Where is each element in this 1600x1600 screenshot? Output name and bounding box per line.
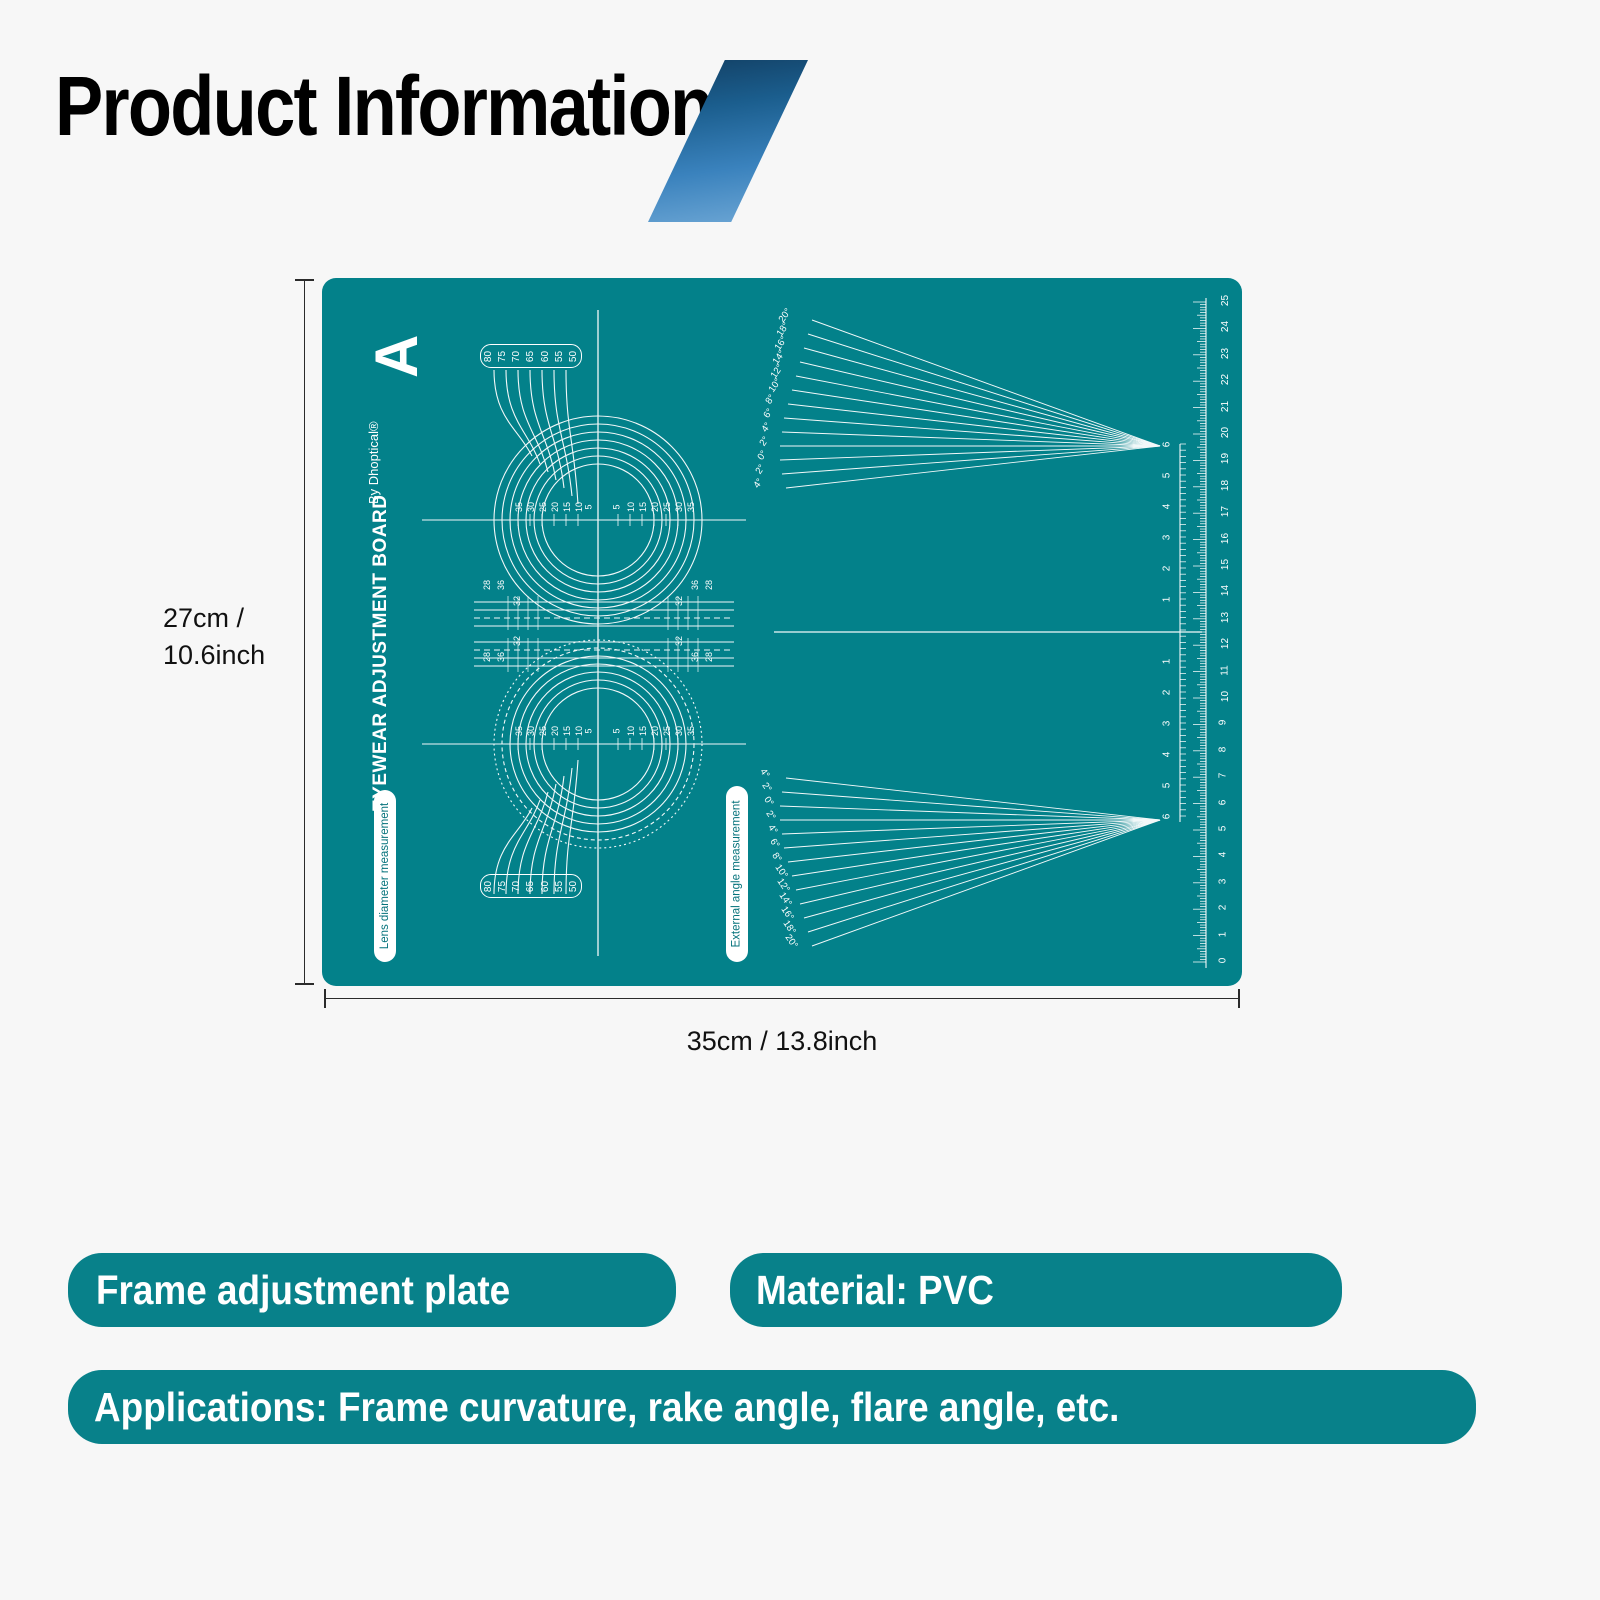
edge-ruler-6: 6 (1217, 799, 1228, 805)
dimension-height-label: 27cm / 10.6inch (163, 600, 303, 675)
angle-upper-8: 4° (759, 421, 773, 435)
bridge-right-5: 28 (704, 652, 714, 662)
feature-pill-applications: Applications: Frame curvature, rake angl… (68, 1370, 1476, 1444)
eyewear-adjustment-board: A By Dhoptical® EYEWEAR ADJUSTMENT BOARD… (322, 278, 1242, 986)
center-scale-r-0-15: 15 (638, 502, 648, 512)
feature-pill-material: Material: PVC (730, 1253, 1342, 1327)
inner-ruler-dn-3: 3 (1161, 721, 1172, 727)
center-scale-r-1-15: 15 (638, 726, 648, 736)
feature-3-label: Applications: Frame curvature, rake angl… (94, 1384, 1119, 1431)
inner-ruler-dn-6: 6 (1161, 814, 1172, 820)
inner-ruler-up-2: 2 (1161, 566, 1172, 572)
angle-lower-0: 4° (757, 767, 771, 781)
center-scale-l-0-30: 30 (526, 502, 536, 512)
page-title: Product Information (55, 58, 713, 155)
bridge-right-3: 32 (674, 636, 684, 646)
dimension-cap-top (295, 279, 314, 281)
edge-ruler-12: 12 (1220, 638, 1231, 649)
center-scale-r-1-25: 25 (662, 726, 672, 736)
center-scale-l-1-35: 35 (514, 726, 524, 736)
angle-upper-12: 4° (751, 477, 765, 491)
angle-upper-6: 8° (763, 393, 777, 407)
center-scale-l-1-15: 15 (562, 726, 572, 736)
edge-ruler-5: 5 (1217, 826, 1228, 832)
edge-ruler-24: 24 (1220, 321, 1231, 332)
edge-ruler-13: 13 (1220, 612, 1231, 623)
bridge-left-4: 36 (496, 652, 506, 662)
page-header: Product Information (0, 0, 1600, 240)
edge-ruler-1: 1 (1217, 931, 1228, 937)
dimension-line-height (304, 280, 305, 984)
angle-lower-5: 6° (767, 837, 781, 851)
dimension-width-label: 35cm / 13.8inch (324, 1026, 1240, 1057)
center-scale-l-0-35: 35 (514, 502, 524, 512)
edge-ruler-18: 18 (1220, 480, 1231, 491)
edge-ruler-21: 21 (1220, 401, 1231, 412)
center-scale-r-1-35: 35 (686, 726, 696, 736)
angle-lower-2: 0° (761, 795, 775, 809)
bridge-right-0: 32 (674, 596, 684, 606)
center-scale-l-0-15: 15 (562, 502, 572, 512)
center-scale-r-1-20: 20 (650, 726, 660, 736)
angle-upper-10: 0° (755, 449, 769, 463)
angle-lower-3: 2° (763, 809, 777, 823)
edge-ruler-23: 23 (1220, 348, 1231, 359)
bridge-left-1: 36 (496, 580, 506, 590)
center-scale-r-0-20: 20 (650, 502, 660, 512)
center-scale-l-0-25: 25 (538, 502, 548, 512)
inner-ruler-dn-5: 5 (1161, 783, 1172, 789)
center-scale-l-1-10: 10 (574, 726, 584, 736)
dimension-line-width (324, 998, 1240, 999)
edge-ruler-15: 15 (1220, 559, 1231, 570)
center-scale-r-0-5: 5 (612, 504, 622, 509)
inner-ruler-up-3: 3 (1161, 535, 1172, 541)
edge-ruler-19: 19 (1220, 453, 1231, 464)
inner-ruler-up-4: 4 (1161, 504, 1172, 510)
inner-ruler-up-6: 6 (1161, 442, 1172, 448)
center-scale-l-0-20: 20 (550, 502, 560, 512)
board-scale-numbers: 3530252015105510152025303535302520151055… (322, 278, 1242, 986)
bridge-left-0: 28 (482, 580, 492, 590)
angle-lower-12: 20° (783, 932, 800, 950)
bridge-right-2: 28 (704, 580, 714, 590)
inner-ruler-dn-1: 1 (1161, 659, 1172, 665)
center-scale-r-0-10: 10 (626, 502, 636, 512)
center-scale-r-0-25: 25 (662, 502, 672, 512)
center-scale-r-1-30: 30 (674, 726, 684, 736)
angle-upper-7: 6° (761, 407, 775, 421)
edge-ruler-14: 14 (1220, 585, 1231, 596)
feature-pill-frame-adjustment-plate: Frame adjustment plate (68, 1253, 676, 1327)
edge-ruler-4: 4 (1217, 852, 1228, 858)
edge-ruler-25: 25 (1220, 295, 1231, 306)
bridge-left-2: 32 (512, 596, 522, 606)
edge-ruler-20: 20 (1220, 427, 1231, 438)
center-scale-l-1-25: 25 (538, 726, 548, 736)
bridge-right-4: 36 (690, 652, 700, 662)
center-scale-r-1-5: 5 (612, 728, 622, 733)
center-scale-r-0-35: 35 (686, 502, 696, 512)
edge-ruler-22: 22 (1220, 374, 1231, 385)
edge-ruler-0: 0 (1217, 958, 1228, 964)
center-scale-l-1-5: 5 (584, 728, 594, 733)
inner-ruler-dn-2: 2 (1161, 690, 1172, 696)
edge-ruler-17: 17 (1220, 506, 1231, 517)
feature-1-label: Frame adjustment plate (96, 1267, 510, 1314)
dimension-height-inch: 10.6inch (163, 637, 303, 674)
dimension-cap-right (1238, 989, 1240, 1008)
edge-ruler-7: 7 (1217, 773, 1228, 779)
angle-lower-4: 4° (765, 823, 779, 837)
inner-ruler-dn-4: 4 (1161, 752, 1172, 758)
bridge-left-5: 28 (482, 652, 492, 662)
dimension-cap-bottom (295, 983, 314, 985)
bridge-left-3: 32 (512, 636, 522, 646)
angle-upper-11: 2° (753, 463, 767, 477)
dimension-cap-left (324, 989, 326, 1008)
center-scale-l-1-20: 20 (550, 726, 560, 736)
edge-ruler-2: 2 (1217, 905, 1228, 911)
bridge-right-1: 36 (690, 580, 700, 590)
dimension-height-cm: 27cm / (163, 600, 303, 637)
angle-upper-9: 2° (757, 435, 771, 449)
edge-ruler-16: 16 (1220, 533, 1231, 544)
center-scale-l-0-5: 5 (584, 504, 594, 509)
feature-2-label: Material: PVC (756, 1267, 994, 1314)
edge-ruler-8: 8 (1217, 747, 1228, 753)
edge-ruler-3: 3 (1217, 879, 1228, 885)
edge-ruler-9: 9 (1217, 720, 1228, 726)
center-scale-l-0-10: 10 (574, 502, 584, 512)
edge-ruler-11: 11 (1220, 665, 1231, 675)
center-scale-r-1-10: 10 (626, 726, 636, 736)
angle-upper-5: 10° (767, 376, 784, 394)
inner-ruler-up-5: 5 (1161, 473, 1172, 479)
inner-ruler-up-1: 1 (1161, 597, 1172, 603)
edge-ruler-10: 10 (1220, 691, 1231, 702)
center-scale-l-1-30: 30 (526, 726, 536, 736)
center-scale-r-0-30: 30 (674, 502, 684, 512)
product-image: A By Dhoptical® EYEWEAR ADJUSTMENT BOARD… (322, 278, 1242, 986)
angle-lower-1: 2° (759, 781, 773, 795)
